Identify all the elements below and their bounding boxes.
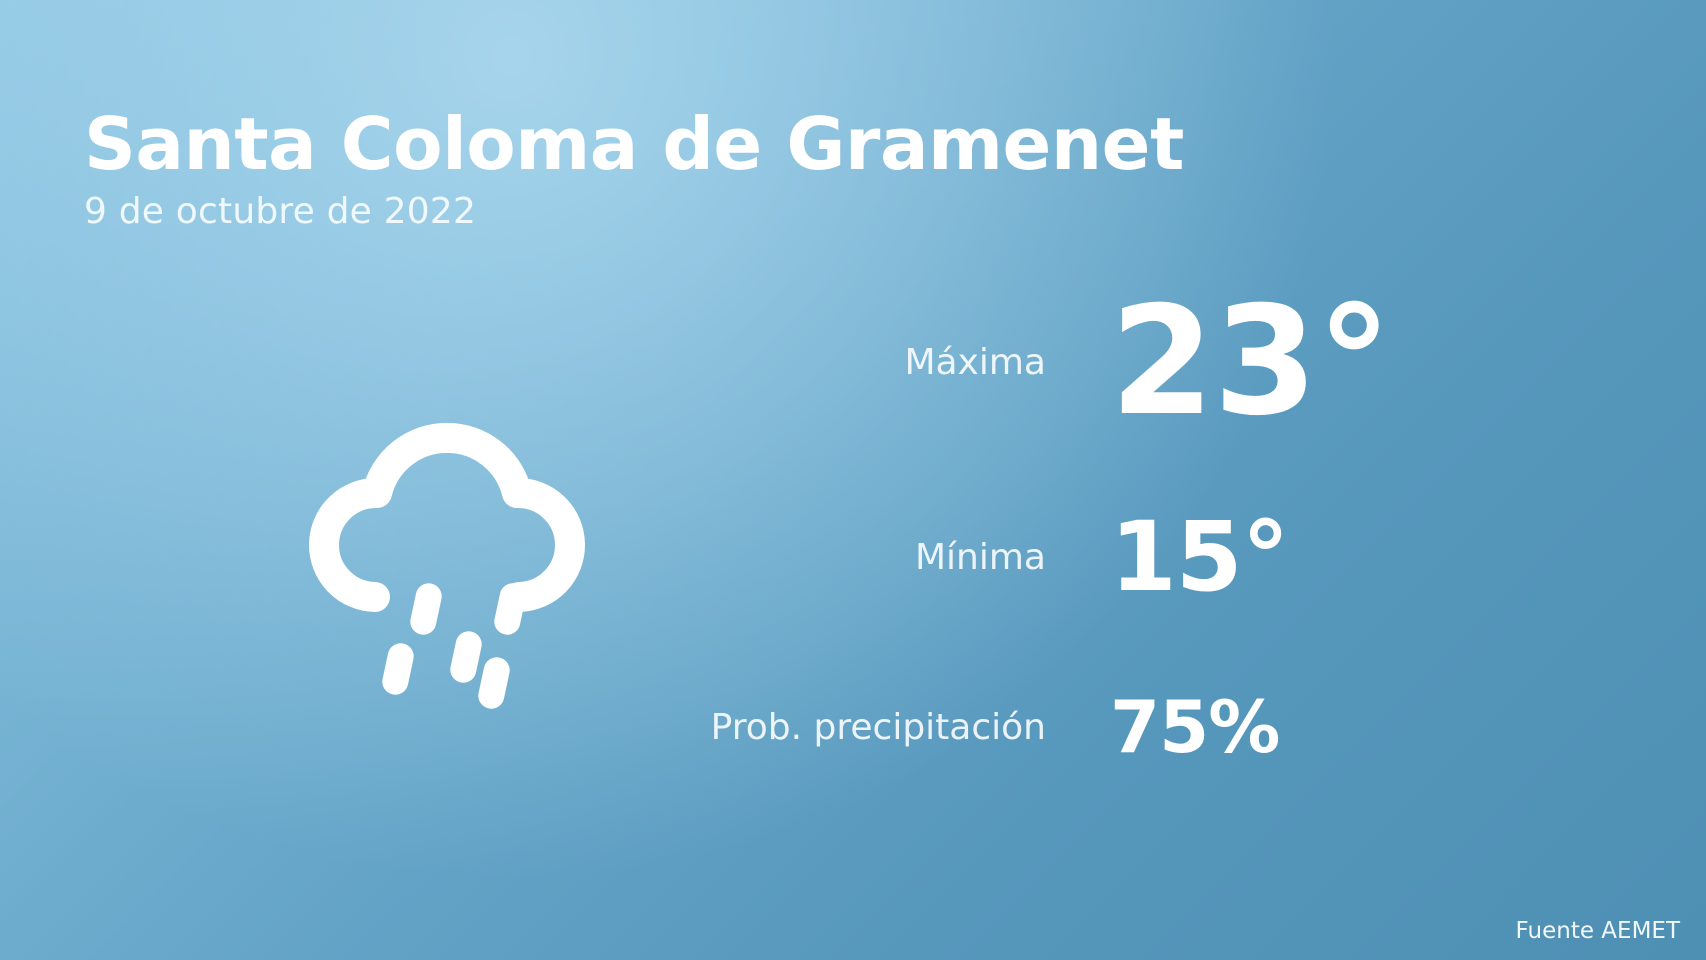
- stat-row-maxima: Máxima 23°: [600, 262, 1440, 462]
- page-title: Santa Coloma de Gramenet: [84, 108, 1624, 180]
- stat-row-precipitacion: Prob. precipitación 75%: [600, 652, 1440, 802]
- precipitacion-label: Prob. precipitación: [711, 707, 1110, 748]
- maxima-label: Máxima: [904, 342, 1110, 383]
- card-body: Máxima 23° Mínima 15° Prob. precipitació…: [0, 262, 1706, 842]
- card-header: Santa Coloma de Gramenet 9 de octubre de…: [84, 108, 1624, 230]
- minima-value: 15°: [1110, 509, 1440, 605]
- stat-row-minima: Mínima 15°: [600, 462, 1440, 652]
- weather-forecast-card: Santa Coloma de Gramenet 9 de octubre de…: [0, 0, 1706, 960]
- forecast-stats: Máxima 23° Mínima 15° Prob. precipitació…: [600, 262, 1440, 802]
- source-attribution: Fuente AEMET: [1516, 918, 1680, 944]
- weather-icon-container: [250, 362, 650, 742]
- cloud-with-rain-icon: [285, 387, 615, 717]
- precipitacion-value: 75%: [1110, 691, 1440, 763]
- forecast-date: 9 de octubre de 2022: [84, 194, 1624, 230]
- minima-label: Mínima: [915, 537, 1110, 578]
- maxima-value: 23°: [1110, 287, 1440, 437]
